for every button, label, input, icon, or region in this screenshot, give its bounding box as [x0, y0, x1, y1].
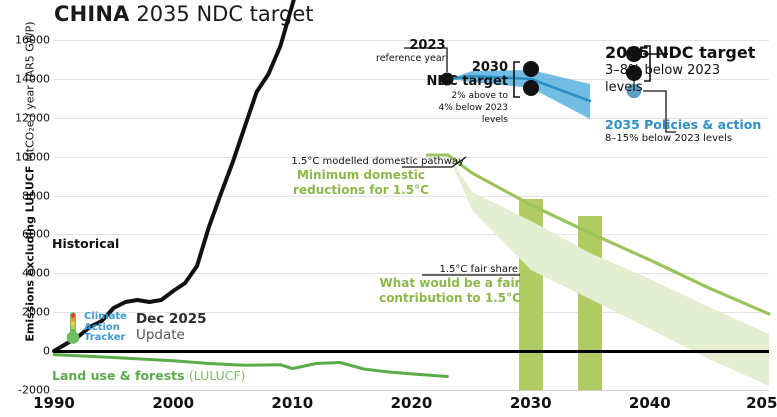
x-tick-label: 1990 — [33, 394, 75, 412]
y-tick-label: 12000 — [15, 111, 50, 124]
ndc-2030-dot-lower — [523, 80, 539, 96]
annotation-policies-sub: 8–15% below 2023 levels — [605, 133, 777, 144]
chart-figure: CHINA 2035 NDC target Emissions excludin… — [0, 0, 777, 417]
annotation-lulucf-bold: Land use & forests — [52, 368, 185, 383]
annotation-pathway: 1.5°C modelled domestic pathway Minimum … — [236, 156, 486, 197]
y-tick-label: 0 — [43, 345, 50, 358]
title-country: CHINA — [54, 2, 130, 26]
climate-action-tracker-logo: Climate Action Tracker Dec 2025 Update — [66, 311, 207, 345]
annotation-2030-ndc: 2030 NDC target 2% above to 4% below 202… — [378, 60, 508, 126]
x-tick-label: 2030 — [510, 394, 552, 412]
annotation-2030-title: NDC target — [378, 75, 508, 90]
x-tick-label: 2000 — [152, 394, 194, 412]
x-tick-label: 2050 — [746, 394, 777, 412]
y-tick-label: 4000 — [22, 267, 50, 280]
annotation-pathway-hl2: reductions for 1.5°C — [236, 183, 486, 197]
annotation-fairshare: 1.5°C fair share What would be a fair co… — [350, 264, 550, 305]
y-tick-label: 14000 — [15, 72, 50, 85]
y-tick-label: 10000 — [15, 150, 50, 163]
annotation-fairshare-hl1: What would be a fair — [350, 276, 550, 290]
annotation-2035-policies: 2035 Policies & action 8–15% below 2023 … — [605, 118, 777, 144]
logo-date-bold: Dec 2025 — [136, 312, 207, 328]
ndc-2030-dot-upper — [523, 61, 539, 77]
logo-line-3: Tracker — [84, 333, 127, 344]
y-tick-label: 2000 — [22, 306, 50, 319]
annotation-fairshare-hl2: contribution to 1.5°C — [350, 291, 550, 305]
logo-text: Climate Action Tracker — [84, 312, 127, 344]
logo-date: Dec 2025 Update — [136, 312, 207, 344]
x-tick-label: 2040 — [629, 394, 671, 412]
annotation-2030-sub1: 2% above to — [378, 91, 508, 102]
annotation-pathway-hl1: Minimum domestic — [236, 168, 486, 182]
x-tick-label: 2010 — [271, 394, 313, 412]
annotation-2030-sub2: 4% below 2023 — [378, 103, 508, 114]
annotation-2035-sub2: levels — [605, 81, 775, 96]
annotation-2030-sub3: levels — [378, 115, 508, 126]
annotation-pathway-label: 1.5°C modelled domestic pathway — [236, 156, 486, 167]
annotation-2035-ndc: 2035 NDC target 3–8% below 2023 levels — [605, 44, 775, 95]
annotation-fairshare-label: 1.5°C fair share — [350, 264, 550, 275]
annotation-2030-year: 2030 — [378, 60, 508, 75]
thermometer-icon — [66, 311, 80, 345]
annotation-historical: Historical — [52, 236, 119, 251]
annotation-2023-year: 2023 — [376, 38, 446, 53]
y-tick-label: 16000 — [15, 34, 50, 47]
y-tick-label: 6000 — [22, 228, 50, 241]
logo-date-sub: Update — [136, 328, 207, 344]
annotation-2035-title: 2035 NDC target — [605, 44, 775, 62]
annotation-lulucf: Land use & forests (LULUCF) — [52, 368, 246, 383]
y-tick-label: 8000 — [22, 189, 50, 202]
x-tick-label: 2020 — [391, 394, 433, 412]
logo-line-1: Climate — [84, 312, 127, 323]
zero-line — [54, 350, 769, 353]
annotation-2035-sub1: 3–8% below 2023 — [605, 64, 775, 79]
annotation-lulucf-paren: (LULUCF) — [189, 368, 246, 383]
x-axis: 1990 2000 2010 2020 2030 2040 2050 — [54, 390, 769, 417]
page-title: CHINA 2035 NDC target — [54, 2, 314, 26]
annotation-policies-title: 2035 Policies & action — [605, 118, 777, 132]
